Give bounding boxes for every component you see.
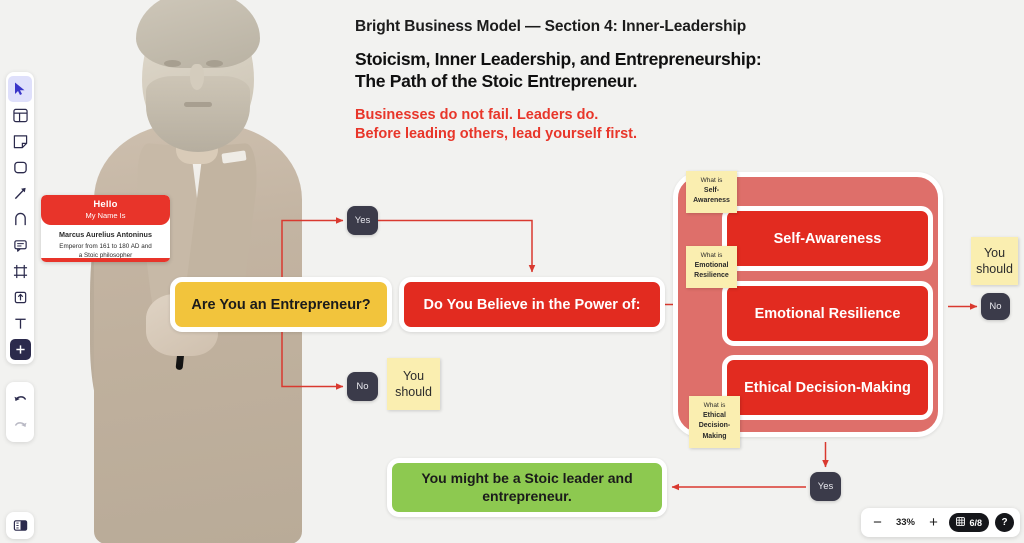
sticky-prefix: What is	[701, 252, 723, 259]
template-tool[interactable]	[8, 102, 32, 128]
select-tool[interactable]	[8, 76, 32, 102]
badge-no-left[interactable]: No	[347, 372, 378, 401]
name-tag-card[interactable]: Hello My Name Is Marcus Aurelius Antonin…	[41, 195, 170, 262]
frame-tool[interactable]	[8, 258, 32, 284]
page-subtitle-line-2: Before leading others, lead yourself fir…	[355, 125, 761, 145]
name-tag-hello: Hello	[43, 199, 168, 210]
shape-tool[interactable]	[8, 154, 32, 180]
page-subtitle-line-1: Businesses do not fail. Leaders do.	[355, 106, 761, 126]
page-counter-button[interactable]: 6/8	[949, 513, 989, 532]
badge-yes-bottom[interactable]: Yes	[810, 472, 841, 501]
page-subtitle: Businesses do not fail. Leaders do. Befo…	[355, 106, 761, 145]
sticky-topic-line-2: Resilience	[688, 271, 735, 282]
panel-toggle-icon[interactable]	[6, 512, 34, 539]
sticky-prefix: What is	[704, 402, 726, 409]
pillar-ethical-decision-making[interactable]: Ethical Decision-Making	[722, 355, 933, 420]
arrow-tool[interactable]	[8, 180, 32, 206]
sticky-note-self-awareness[interactable]: What is Self- Awareness	[686, 171, 737, 213]
pillar-emotional-resilience[interactable]: Emotional Resilience	[722, 281, 933, 346]
page-title-line-2: The Path of the Stoic Entrepreneur.	[355, 70, 761, 92]
name-tag-name: Marcus Aurelius Antoninus	[45, 230, 166, 239]
page-title: Stoicism, Inner Leadership, and Entrepre…	[355, 48, 761, 93]
zoom-level-label[interactable]: 33%	[893, 517, 917, 528]
sticky-prefix: What is	[701, 177, 723, 184]
sticky-note-you-should-right[interactable]: You should	[971, 237, 1018, 285]
help-button[interactable]: ?	[995, 513, 1014, 532]
slide-heading-block: Bright Business Model — Section 4: Inner…	[355, 18, 761, 145]
badge-yes-top[interactable]: Yes	[347, 206, 378, 235]
sticky-topic-line-1: Self-	[688, 186, 735, 197]
pen-tool[interactable]	[8, 206, 32, 232]
page-title-line-1: Stoicism, Inner Leadership, and Entrepre…	[355, 48, 761, 70]
name-tag-footer-bar	[41, 258, 170, 262]
page-counter-label: 6/8	[969, 518, 982, 528]
sticky-note-you-should-left[interactable]: You should	[387, 358, 440, 410]
sticky-note-tool[interactable]	[8, 128, 32, 154]
history-toolbar	[6, 382, 34, 442]
sticky-topic-line-1: Emotional	[688, 261, 735, 272]
sticky-topic-line-1: Ethical	[691, 411, 738, 422]
redo-icon[interactable]	[8, 412, 32, 438]
whiteboard-canvas[interactable]: Hello My Name Is Marcus Aurelius Antonin…	[0, 0, 1024, 543]
sticky-note-emotional-resilience[interactable]: What is Emotional Resilience	[686, 246, 737, 288]
node-outcome-stoic-leader[interactable]: You might be a Stoic leader and entrepre…	[387, 458, 667, 517]
zoom-out-button[interactable]: −	[867, 513, 887, 533]
page-kicker: Bright Business Model — Section 4: Inner…	[355, 18, 761, 36]
zoom-toolbar: − 33% + 6/8 ?	[861, 508, 1020, 537]
name-tag-header: Hello My Name Is	[41, 195, 170, 225]
add-tool[interactable]	[10, 339, 31, 360]
sticky-note-ethical-decision-making[interactable]: What is Ethical Decision- Making	[689, 396, 740, 448]
pillar-self-awareness[interactable]: Self-Awareness	[722, 206, 933, 271]
upload-tool[interactable]	[8, 284, 32, 310]
name-tag-my-name-is: My Name Is	[43, 211, 168, 220]
text-tool[interactable]	[8, 310, 32, 336]
node-do-you-believe[interactable]: Do You Believe in the Power of:	[399, 277, 665, 332]
comment-tool[interactable]	[8, 232, 32, 258]
node-are-you-an-entrepreneur[interactable]: Are You an Entrepreneur?	[170, 277, 392, 332]
sticky-topic-line-2: Decision-	[691, 421, 738, 432]
name-tag-body: Marcus Aurelius Antoninus Emperor from 1…	[41, 225, 170, 260]
name-tag-desc-1: Emperor from 161 to 180 AD and	[45, 242, 166, 251]
zoom-in-button[interactable]: +	[923, 513, 943, 533]
left-toolbar	[6, 72, 34, 364]
sticky-topic-line-3: Making	[691, 432, 738, 443]
undo-icon[interactable]	[8, 386, 32, 412]
sticky-topic-line-2: Awareness	[688, 196, 735, 207]
badge-no-right[interactable]: No	[981, 293, 1010, 320]
grid-icon	[956, 517, 965, 528]
